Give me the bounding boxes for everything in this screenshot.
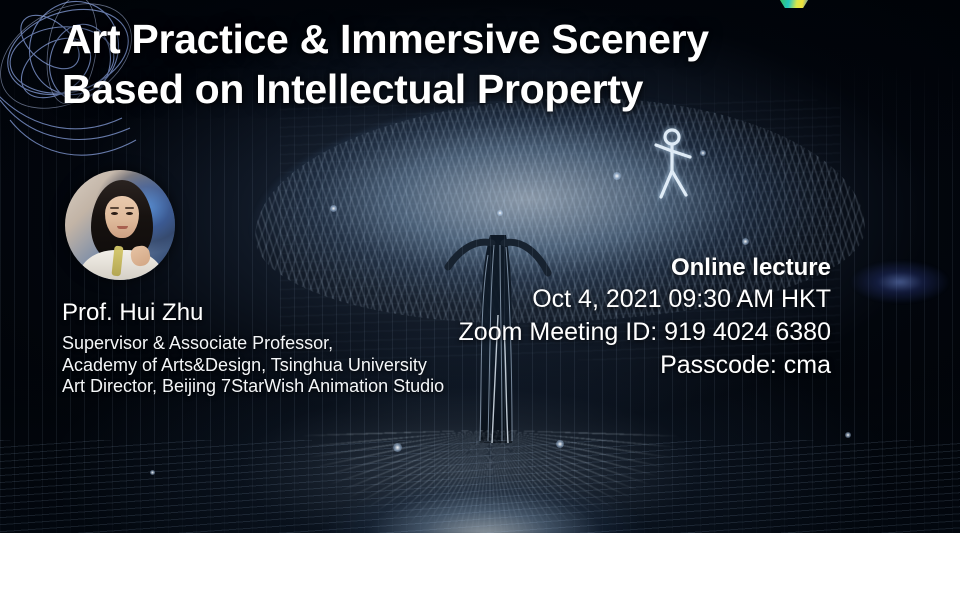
page-title: Art Practice & Immersive Scenery Based o…: [62, 14, 892, 114]
avatar-eyebrow-left: [110, 207, 119, 209]
speaker-avatar: [65, 170, 175, 280]
lecture-info-block: Online lecture Oct 4, 2021 09:30 AM HKT …: [271, 253, 831, 382]
light-speck: [613, 172, 621, 180]
footer-white-band: [0, 533, 960, 600]
lecture-datetime: Oct 4, 2021 09:30 AM HKT: [271, 283, 831, 316]
avatar-eyebrow-right: [125, 207, 134, 209]
lecture-heading: Online lecture: [271, 253, 831, 283]
lecture-poster: Art Practice & Immersive Scenery Based o…: [0, 0, 960, 600]
avatar-mouth: [117, 226, 128, 229]
light-speck: [393, 443, 402, 452]
avatar-eye-right: [126, 212, 133, 215]
light-speck: [556, 440, 564, 448]
light-speck: [330, 205, 337, 212]
light-speck: [150, 470, 155, 475]
light-speck: [700, 150, 706, 156]
zoom-passcode: Passcode: cma: [271, 349, 831, 382]
light-speck: [845, 432, 851, 438]
zoom-meeting-id: Zoom Meeting ID: 919 4024 6380: [271, 316, 831, 349]
artwork-background: Art Practice & Immersive Scenery Based o…: [0, 0, 960, 533]
avatar-eye-left: [111, 212, 118, 215]
light-speck: [742, 238, 749, 245]
right-blue-glow: [850, 258, 950, 306]
speaker-name: Prof. Hui Zhu: [62, 298, 203, 328]
light-speck: [497, 210, 503, 216]
